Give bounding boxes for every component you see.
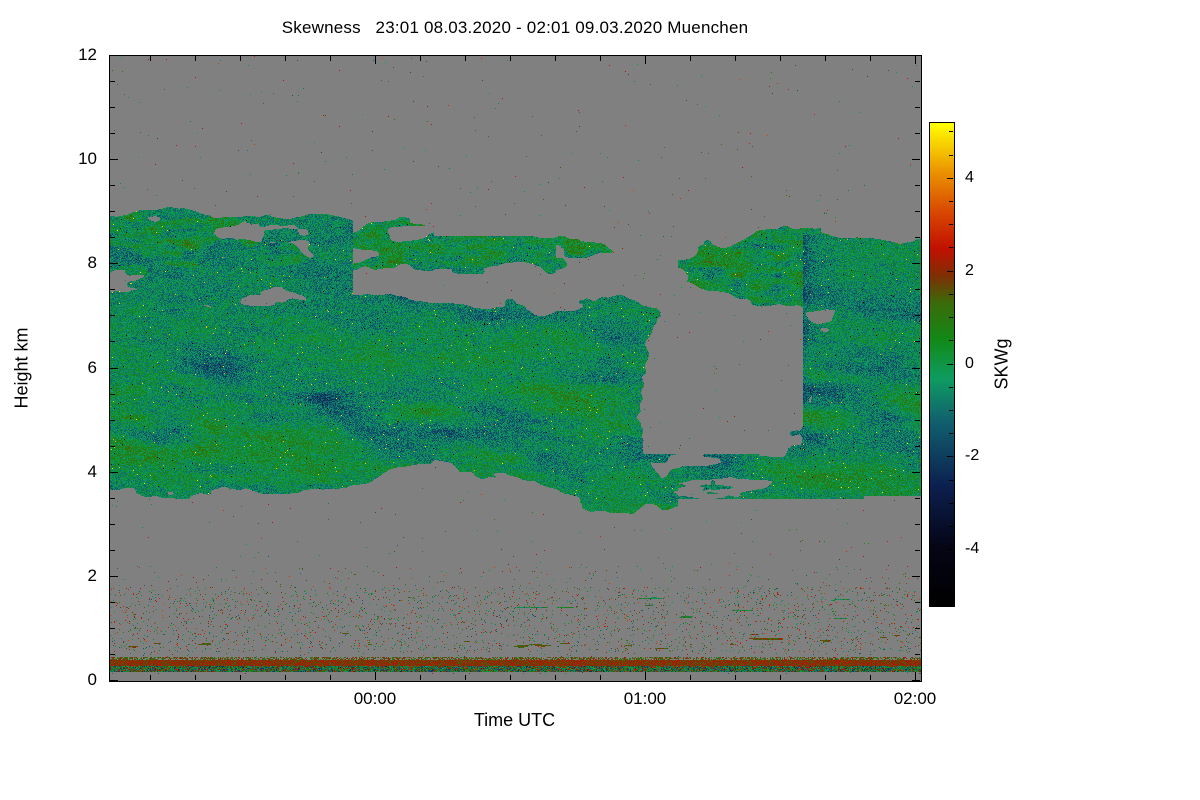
x-axis-minor-tick — [285, 675, 286, 680]
x-axis-title: Time UTC — [109, 710, 920, 731]
y-axis-minor-tick — [915, 81, 920, 82]
x-axis-major-tick — [915, 672, 916, 680]
y-axis-minor-tick — [110, 107, 115, 108]
y-axis-major-tick — [110, 263, 118, 264]
y-axis-major-tick — [912, 680, 920, 681]
y-axis-tick-label: 2 — [55, 566, 97, 586]
y-axis-minor-tick — [915, 341, 920, 342]
y-axis-minor-tick — [915, 237, 920, 238]
x-axis-minor-tick — [690, 56, 691, 61]
colorbar-major-tick — [947, 549, 953, 550]
y-axis-minor-tick — [110, 394, 115, 395]
y-axis-tick-label: 10 — [55, 149, 97, 169]
y-axis-minor-tick — [110, 185, 115, 186]
y-axis-major-tick — [110, 472, 118, 473]
colorbar-major-tick — [947, 178, 953, 179]
x-axis-minor-tick — [600, 675, 601, 680]
y-axis-tick-label: 12 — [55, 45, 97, 65]
y-axis-minor-tick — [110, 315, 115, 316]
y-axis-minor-tick — [110, 81, 115, 82]
colorbar-tick-label: 0 — [965, 355, 974, 373]
y-axis-minor-tick — [915, 394, 920, 395]
colorbar-tick-label: 2 — [965, 262, 974, 280]
page-title: Skewness 23:01 08.03.2020 - 02:01 09.03.… — [0, 18, 1030, 38]
colorbar-minor-tick — [949, 503, 953, 504]
y-axis-minor-tick — [915, 185, 920, 186]
x-axis-minor-tick — [555, 56, 556, 61]
y-axis-minor-tick — [110, 550, 115, 551]
y-axis-minor-tick — [110, 524, 115, 525]
x-axis-major-tick — [375, 56, 376, 64]
x-axis-major-tick — [915, 56, 916, 64]
x-axis-minor-tick — [825, 675, 826, 680]
y-axis-major-tick — [912, 263, 920, 264]
colorbar-tick-label: -2 — [965, 447, 979, 465]
colorbar-minor-tick — [949, 131, 953, 132]
x-axis-minor-tick — [555, 675, 556, 680]
x-axis-minor-tick — [600, 56, 601, 61]
y-axis-minor-tick — [915, 420, 920, 421]
x-axis-minor-tick — [420, 675, 421, 680]
colorbar-minor-tick — [949, 340, 953, 341]
y-axis-major-tick — [912, 576, 920, 577]
x-axis-minor-tick — [420, 56, 421, 61]
y-axis-major-tick — [912, 159, 920, 160]
x-axis-minor-tick — [690, 675, 691, 680]
y-axis-tick-label: 4 — [55, 462, 97, 482]
x-axis-minor-tick — [510, 56, 511, 61]
x-axis-minor-tick — [870, 675, 871, 680]
x-axis-minor-tick — [510, 675, 511, 680]
x-axis-minor-tick — [195, 675, 196, 680]
x-axis-minor-tick — [285, 56, 286, 61]
y-axis-minor-tick — [915, 602, 920, 603]
colorbar-minor-tick — [949, 410, 953, 411]
colorbar-minor-tick — [949, 433, 953, 434]
colorbar-major-tick — [947, 364, 953, 365]
x-axis-tick-label: 02:00 — [855, 689, 975, 709]
y-axis-major-tick — [110, 680, 118, 681]
y-axis-minor-tick — [110, 654, 115, 655]
y-axis-major-tick — [912, 55, 920, 56]
y-axis-minor-tick — [110, 133, 115, 134]
y-axis-minor-tick — [915, 550, 920, 551]
y-axis-minor-tick — [110, 341, 115, 342]
y-axis-tick-label: 0 — [55, 670, 97, 690]
y-axis-tick-label: 6 — [55, 358, 97, 378]
colorbar-minor-tick — [949, 294, 953, 295]
x-axis-minor-tick — [870, 56, 871, 61]
y-axis-minor-tick — [915, 498, 920, 499]
y-axis-minor-tick — [915, 289, 920, 290]
colorbar-minor-tick — [949, 596, 953, 597]
y-axis-minor-tick — [110, 289, 115, 290]
y-axis-minor-tick — [110, 602, 115, 603]
y-axis-major-tick — [912, 368, 920, 369]
y-axis-major-tick — [110, 368, 118, 369]
y-axis-minor-tick — [915, 133, 920, 134]
y-axis-major-tick — [912, 472, 920, 473]
colorbar-title: SKWg — [992, 338, 1013, 389]
x-axis-minor-tick — [330, 56, 331, 61]
y-axis-minor-tick — [110, 211, 115, 212]
colorbar-minor-tick — [949, 387, 953, 388]
x-axis-minor-tick — [240, 675, 241, 680]
y-axis-major-tick — [110, 159, 118, 160]
y-axis-major-tick — [110, 55, 118, 56]
y-axis-minor-tick — [110, 237, 115, 238]
x-axis-minor-tick — [330, 675, 331, 680]
x-axis-minor-tick — [780, 56, 781, 61]
y-axis-minor-tick — [915, 628, 920, 629]
colorbar-minor-tick — [949, 480, 953, 481]
colorbar-minor-tick — [949, 224, 953, 225]
colorbar-major-tick — [947, 456, 953, 457]
y-axis-minor-tick — [110, 498, 115, 499]
x-axis-minor-tick — [150, 56, 151, 61]
x-axis-major-tick — [645, 56, 646, 64]
y-axis-minor-tick — [915, 315, 920, 316]
colorbar-minor-tick — [949, 247, 953, 248]
x-axis-minor-tick — [465, 56, 466, 61]
y-axis-minor-tick — [915, 446, 920, 447]
colorbar-tick-label: 4 — [965, 169, 974, 187]
x-axis-minor-tick — [195, 56, 196, 61]
y-axis-minor-tick — [110, 628, 115, 629]
x-axis-minor-tick — [735, 675, 736, 680]
y-axis-minor-tick — [110, 420, 115, 421]
x-axis-minor-tick — [240, 56, 241, 61]
x-axis-minor-tick — [150, 675, 151, 680]
y-axis-title: Height km — [12, 327, 33, 408]
x-axis-minor-tick — [780, 675, 781, 680]
colorbar-minor-tick — [949, 526, 953, 527]
y-axis-minor-tick — [110, 446, 115, 447]
y-axis-minor-tick — [915, 107, 920, 108]
y-axis-minor-tick — [915, 524, 920, 525]
x-axis-minor-tick — [825, 56, 826, 61]
skewness-heatmap[interactable] — [110, 56, 921, 681]
x-axis-minor-tick — [735, 56, 736, 61]
colorbar-major-tick — [947, 271, 953, 272]
y-axis-tick-label: 8 — [55, 253, 97, 273]
colorbar-minor-tick — [949, 155, 953, 156]
x-axis-minor-tick — [465, 675, 466, 680]
y-axis-minor-tick — [915, 211, 920, 212]
x-axis-tick-label: 01:00 — [585, 689, 705, 709]
colorbar-minor-tick — [949, 572, 953, 573]
x-axis-major-tick — [645, 672, 646, 680]
plot-area[interactable] — [109, 55, 922, 682]
x-axis-major-tick — [375, 672, 376, 680]
colorbar-tick-label: -4 — [965, 540, 979, 558]
x-axis-tick-label: 00:00 — [315, 689, 435, 709]
colorbar-minor-tick — [949, 317, 953, 318]
colorbar-minor-tick — [949, 201, 953, 202]
y-axis-minor-tick — [915, 654, 920, 655]
y-axis-major-tick — [110, 576, 118, 577]
skewness-time-height-figure: Skewness 23:01 08.03.2020 - 02:01 09.03.… — [0, 0, 1200, 800]
